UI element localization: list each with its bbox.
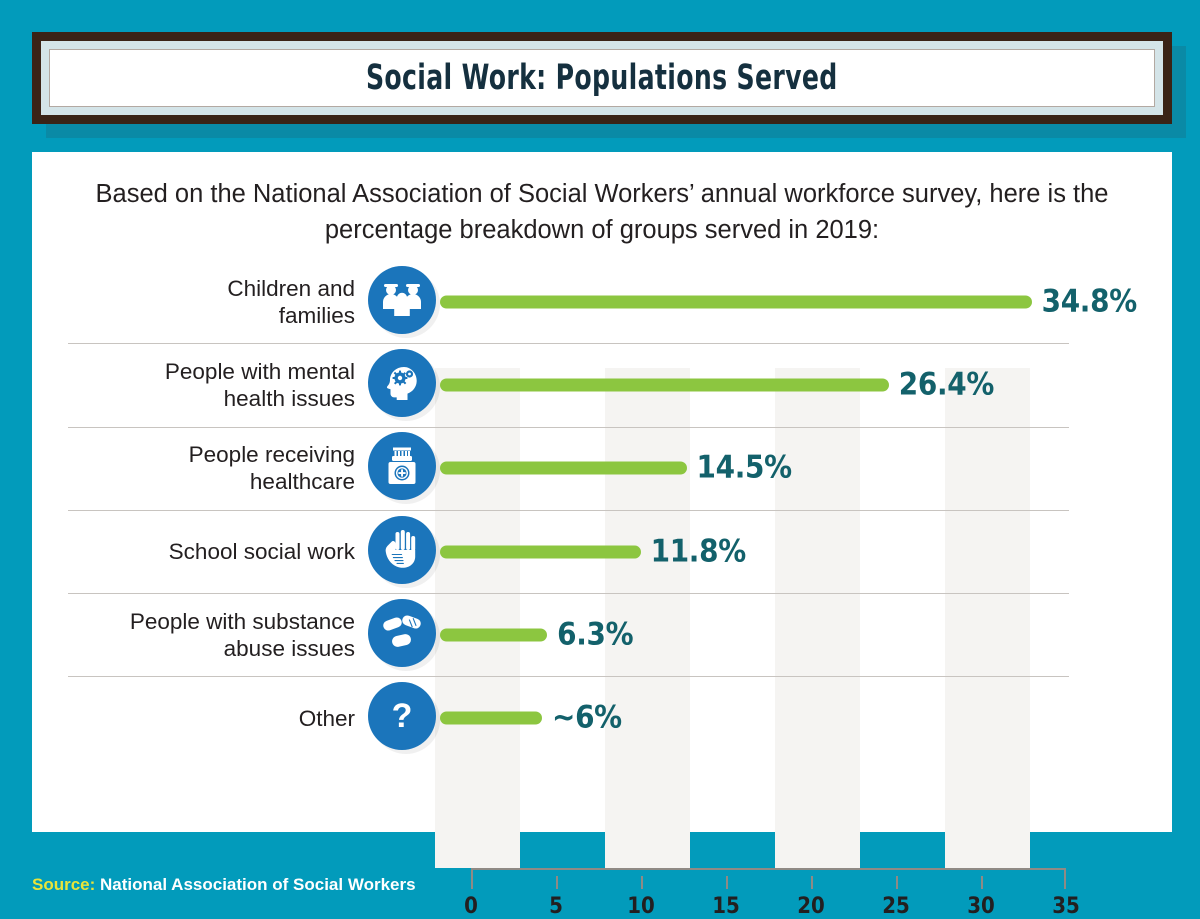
chart-row: Other?~6% bbox=[68, 676, 1136, 759]
bar-value-label: ~6% bbox=[552, 699, 622, 735]
title-plaque-frame: Social Work: Populations Served bbox=[32, 32, 1172, 124]
x-axis-tick-label: 35 bbox=[1052, 894, 1080, 919]
bar-chart: Children and families 34.8%People with m… bbox=[32, 260, 1172, 820]
bar bbox=[440, 545, 641, 558]
row-plot: ~6% bbox=[440, 676, 1136, 759]
question-mark-icon: ? bbox=[368, 682, 436, 750]
row-label: People with substance abuse issues bbox=[68, 608, 368, 662]
question-mark-glyph: ? bbox=[392, 699, 413, 733]
medicine-bottle-icon bbox=[368, 432, 436, 500]
x-axis-tick bbox=[471, 876, 473, 889]
bar-value-label: 14.5% bbox=[697, 450, 792, 486]
bar bbox=[440, 295, 1032, 308]
x-axis-line bbox=[471, 868, 1066, 870]
source-footer: Source: National Association of Social W… bbox=[32, 875, 416, 895]
x-axis-tick bbox=[726, 876, 728, 889]
row-plot: 14.5% bbox=[440, 427, 1136, 510]
x-axis-tick bbox=[556, 876, 558, 889]
row-label: Children and families bbox=[68, 275, 368, 329]
bar-value-label: 6.3% bbox=[557, 616, 633, 652]
row-icon-wrap bbox=[368, 349, 440, 421]
title-plaque-inner: Social Work: Populations Served bbox=[49, 49, 1155, 107]
bar bbox=[440, 378, 889, 391]
row-icon-wrap bbox=[368, 516, 440, 588]
infographic-root: Social Work: Populations Served Based on… bbox=[0, 0, 1200, 919]
chart-row: People with substance abuse issues 6.3% bbox=[68, 593, 1136, 676]
bar bbox=[440, 628, 547, 641]
row-icon-wrap bbox=[368, 266, 440, 338]
x-axis-tick-label: 25 bbox=[882, 894, 910, 919]
family-group-icon bbox=[368, 266, 436, 334]
x-axis-tick-label: 15 bbox=[712, 894, 740, 919]
chart-row: Children and families 34.8% bbox=[68, 260, 1136, 343]
page-title: Social Work: Populations Served bbox=[366, 58, 838, 98]
row-plot: 11.8% bbox=[440, 510, 1136, 593]
pills-icon bbox=[368, 599, 436, 667]
x-axis-tick-label: 5 bbox=[549, 894, 563, 919]
bar-value-label: 11.8% bbox=[651, 533, 746, 569]
bar-value-label: 34.8% bbox=[1042, 283, 1137, 319]
title-plaque-mat: Social Work: Populations Served bbox=[41, 41, 1163, 115]
source-text: National Association of Social Workers bbox=[100, 875, 416, 894]
bar bbox=[440, 462, 687, 475]
row-plot: 6.3% bbox=[440, 593, 1136, 676]
bar bbox=[440, 712, 542, 725]
row-label: Other bbox=[68, 705, 368, 732]
chart-row: People with mental health issues 26.4% bbox=[68, 343, 1136, 426]
content-card: Based on the National Association of Soc… bbox=[32, 152, 1172, 832]
x-axis-tick-label: 10 bbox=[627, 894, 655, 919]
row-icon-wrap bbox=[368, 432, 440, 504]
x-axis-tick bbox=[811, 876, 813, 889]
raised-hand-icon bbox=[368, 516, 436, 584]
row-plot: 26.4% bbox=[440, 343, 1136, 426]
x-axis-tick bbox=[896, 876, 898, 889]
source-label: Source: bbox=[32, 875, 95, 894]
head-gears-icon bbox=[368, 349, 436, 417]
x-axis-tick bbox=[1064, 876, 1066, 889]
x-axis-tick bbox=[641, 876, 643, 889]
row-label: People receiving healthcare bbox=[68, 441, 368, 495]
bar-value-label: 26.4% bbox=[899, 366, 994, 402]
row-label: People with mental health issues bbox=[68, 358, 368, 412]
chart-rows: Children and families 34.8%People with m… bbox=[68, 260, 1136, 760]
x-axis-cap bbox=[471, 868, 473, 877]
x-axis-tick-label: 30 bbox=[967, 894, 995, 919]
x-axis-tick-label: 20 bbox=[797, 894, 825, 919]
x-axis-tick-label: 0 bbox=[464, 894, 478, 919]
chart-subtitle: Based on the National Association of Soc… bbox=[84, 176, 1120, 248]
chart-row: School social work 11.8% bbox=[68, 510, 1136, 593]
x-axis-cap bbox=[1064, 868, 1066, 877]
row-icon-wrap: ? bbox=[368, 682, 440, 754]
chart-row: People receiving healthcare 14.5% bbox=[68, 427, 1136, 510]
row-plot: 34.8% bbox=[440, 260, 1136, 343]
row-icon-wrap bbox=[368, 599, 440, 671]
x-axis: 05101520253035 bbox=[471, 868, 1066, 919]
x-axis-tick bbox=[981, 876, 983, 889]
row-label: School social work bbox=[68, 538, 368, 565]
